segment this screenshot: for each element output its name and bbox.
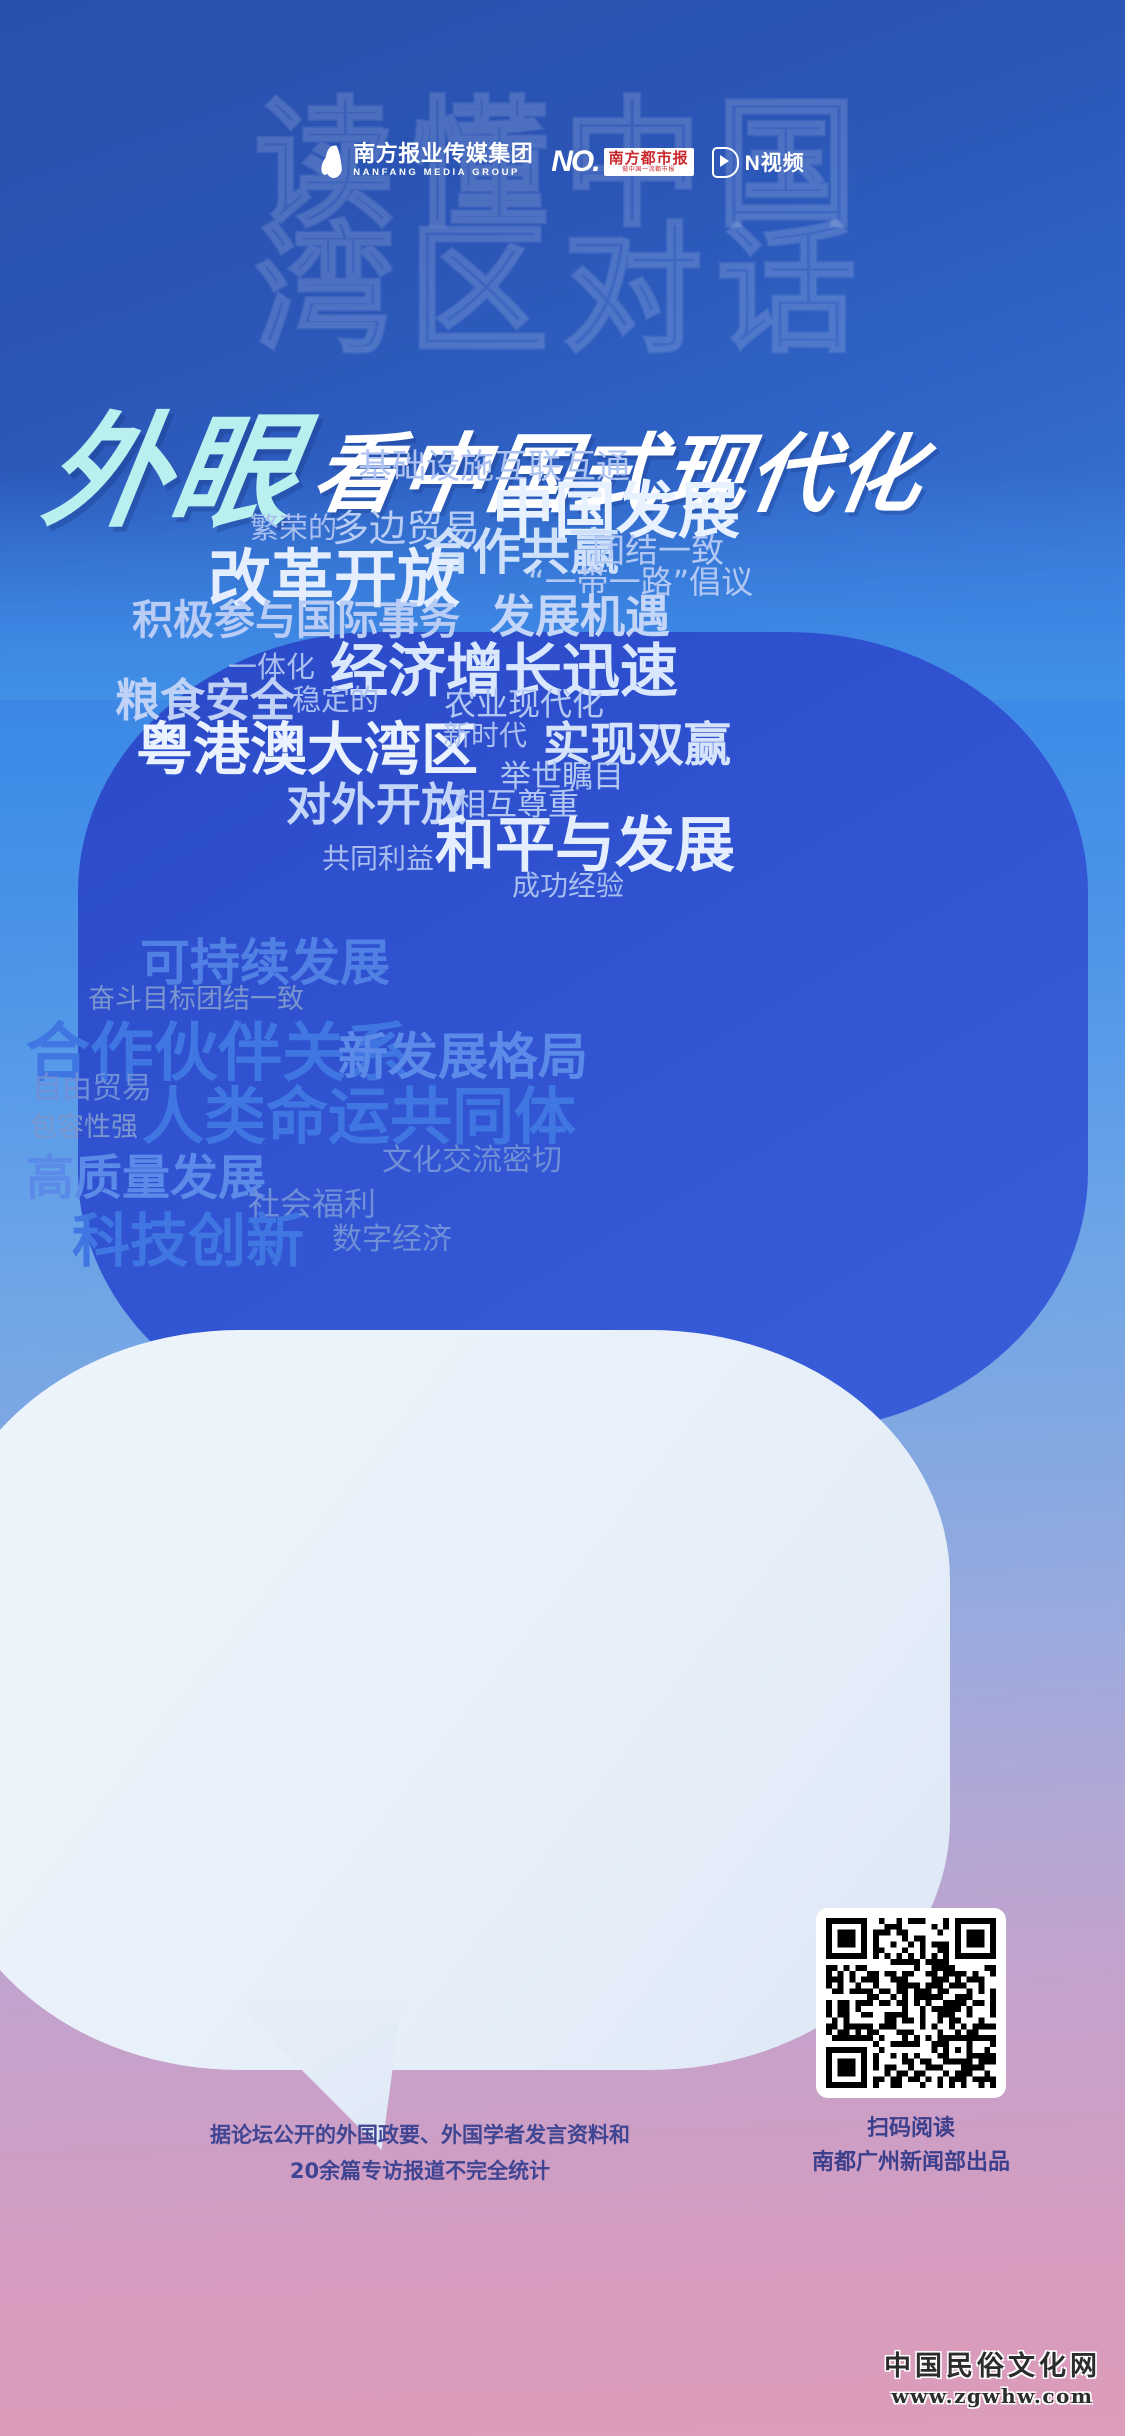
wordcloud-word: 数字经济 <box>332 1225 452 1255</box>
wordcloud-word: 新时代 <box>443 722 527 750</box>
qr-caption-line1: 扫码阅读 <box>756 2112 1066 2146</box>
wordcloud-word: 科技创新 <box>72 1212 304 1270</box>
qr-code-card[interactable] <box>816 1908 1006 2098</box>
wordcloud-word: 和平与发展 <box>435 816 735 876</box>
wordcloud-word: 高质量发展 <box>26 1154 266 1202</box>
wordcloud-word: 团结一致 <box>196 986 304 1013</box>
wordcloud-word: 农业现代化 <box>444 688 604 720</box>
site-watermark: 中国民俗文化网 www.zgwhw.com <box>884 2344 1101 2408</box>
wordcloud-word: 成功经验 <box>512 872 624 900</box>
poster-canvas: 读懂中国 湾区对话 南方报业传媒集团 NANFANG MEDIA GROUP N… <box>0 0 1125 2436</box>
wordcloud-word: 粤港澳大湾区 <box>136 722 478 779</box>
site-watermark-cn: 中国民俗文化网 <box>884 2344 1101 2383</box>
wordcloud-word: 包容性强 <box>30 1114 138 1141</box>
wordcloud-word: 奋斗目标 <box>88 986 196 1013</box>
source-line1: 据论坛公开的外国政要、外国学者发言资料和 <box>100 2118 740 2154</box>
qr-code-image <box>826 1918 996 2088</box>
wordcloud-word: 文化交流密切 <box>382 1146 562 1176</box>
wordcloud-word: 共同利益 <box>322 845 434 873</box>
site-watermark-url: www.zgwhw.com <box>884 2384 1101 2408</box>
wordcloud-word: 发展机遇 <box>490 594 670 639</box>
wordcloud-word: 新发展格局 <box>338 1032 588 1082</box>
qr-caption-line2: 南都广州新闻部出品 <box>756 2146 1066 2180</box>
wordcloud-word: 可持续发展 <box>140 938 390 988</box>
wordcloud-word: 积极参与国际事务 <box>132 600 460 641</box>
wordcloud-word: 自由贸易 <box>32 1074 152 1104</box>
wordcloud-word: 繁荣的 <box>250 514 337 543</box>
wordcloud-word: 稳定的 <box>292 686 379 715</box>
source-line2: 20余篇专访报道不完全统计 <box>100 2154 740 2190</box>
qr-caption: 扫码阅读 南都广州新闻部出品 <box>756 2112 1066 2180</box>
source-note: 据论坛公开的外国政要、外国学者发言资料和 20余篇专访报道不完全统计 <box>100 2118 740 2189</box>
wordcloud-word: 人类命运共同体 <box>142 1086 576 1148</box>
